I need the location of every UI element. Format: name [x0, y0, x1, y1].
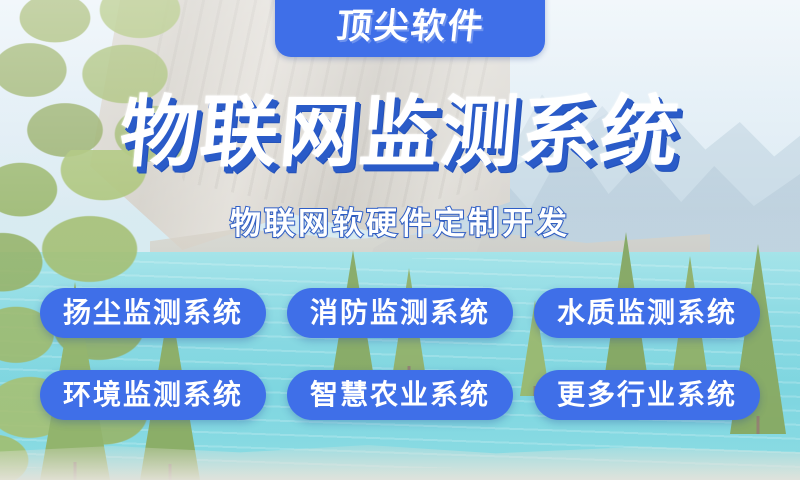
service-pill-label: 智慧农业系统	[310, 381, 490, 409]
banner-title: 物联网监测系统	[0, 94, 800, 172]
service-pill-water-quality-monitoring[interactable]: 水质监测系统	[534, 288, 760, 338]
service-pill-dust-monitoring[interactable]: 扬尘监测系统	[40, 288, 266, 338]
service-pill-environment-monitoring[interactable]: 环境监测系统	[40, 370, 266, 420]
service-pill-label: 更多行业系统	[557, 381, 737, 409]
brand-badge: 顶尖软件	[275, 0, 545, 57]
service-pill-label: 扬尘监测系统	[63, 299, 243, 327]
service-pill-label: 消防监测系统	[310, 299, 490, 327]
service-pill-smart-agriculture[interactable]: 智慧农业系统	[287, 370, 513, 420]
banner-content: 顶尖软件 物联网监测系统 物联网软硬件定制开发 扬尘监测系统 消防监测系统 水质…	[0, 0, 800, 480]
service-pill-fire-monitoring[interactable]: 消防监测系统	[287, 288, 513, 338]
promotional-banner: 顶尖软件 物联网监测系统 物联网软硬件定制开发 扬尘监测系统 消防监测系统 水质…	[0, 0, 800, 480]
service-pill-more-industries[interactable]: 更多行业系统	[534, 370, 760, 420]
banner-subtitle: 物联网软硬件定制开发	[0, 206, 800, 243]
service-pill-grid: 扬尘监测系统 消防监测系统 水质监测系统 环境监测系统 智慧农业系统 更多行业系…	[40, 288, 768, 420]
brand-badge-label: 顶尖软件	[334, 10, 487, 57]
service-pill-label: 环境监测系统	[63, 381, 243, 409]
service-pill-label: 水质监测系统	[557, 299, 737, 327]
